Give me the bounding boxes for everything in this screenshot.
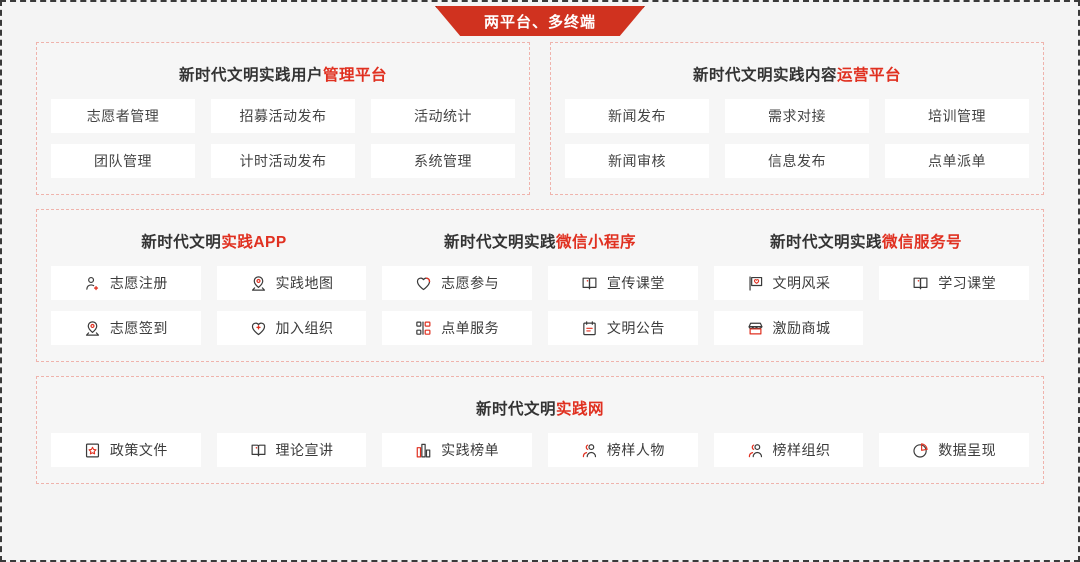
feature-button[interactable]: 团队管理 xyxy=(51,144,195,178)
panels-area: 新时代文明实践用户管理平台 志愿者管理 招募活动发布 活动统计 团队管理 计时活… xyxy=(36,42,1044,546)
terminal-title-miniprogram: 新时代文明实践微信小程序 xyxy=(377,230,703,252)
terminal-title-highlight: 微信小程序 xyxy=(556,234,636,251)
terminal-title-plain: 新时代文明 xyxy=(141,234,221,251)
panel-content-operations: 新时代文明实践内容运营平台 新闻发布 需求对接 培训管理 新闻审核 信息发布 点… xyxy=(550,42,1044,195)
heart-icon xyxy=(415,275,432,292)
map-pin-icon xyxy=(250,275,267,292)
panel-user-management: 新时代文明实践用户管理平台 志愿者管理 招募活动发布 活动统计 团队管理 计时活… xyxy=(36,42,530,195)
feature-label: 宣传课堂 xyxy=(607,273,665,293)
panel-website: 新时代文明实践网 政策文件 xyxy=(36,376,1044,484)
feature-button-order-service[interactable]: 点单服务 xyxy=(382,311,532,345)
feature-label: 志愿参与 xyxy=(441,273,499,293)
notice-board-icon xyxy=(581,320,598,337)
flag-heart-icon xyxy=(747,275,764,292)
people-icon xyxy=(581,442,598,459)
feature-label: 志愿签到 xyxy=(110,318,168,338)
banner-container: 两平台、多终端 xyxy=(2,6,1078,40)
heart-plus-icon xyxy=(250,320,267,337)
terminal-title-plain: 新时代文明实践 xyxy=(444,234,556,251)
feature-button-model-organization[interactable]: 榜样组织 xyxy=(714,433,864,467)
pie-chart-icon xyxy=(912,442,929,459)
panel-title-website: 新时代文明实践网 xyxy=(51,389,1029,433)
panel-terminals: 新时代文明实践APP 新时代文明实践微信小程序 新时代文明实践微信服务号 xyxy=(36,209,1044,362)
user-add-icon xyxy=(84,275,101,292)
bar-chart-icon xyxy=(415,442,432,459)
shop-icon xyxy=(747,320,764,337)
button-grid-user-management: 志愿者管理 招募活动发布 活动统计 团队管理 计时活动发布 系统管理 xyxy=(51,99,515,178)
feature-button[interactable]: 点单派单 xyxy=(885,144,1029,178)
terminal-title-plain: 新时代文明实践 xyxy=(770,234,882,251)
people-icon xyxy=(747,442,764,459)
pin-checkin-icon xyxy=(84,320,101,337)
icon-row: 志愿签到 加入组织 xyxy=(51,311,1029,345)
panel-title-highlight: 实践网 xyxy=(556,401,604,418)
button-row: 新闻审核 信息发布 点单派单 xyxy=(565,144,1029,178)
feature-label: 激励商城 xyxy=(773,318,831,338)
banner-ribbon: 两平台、多终端 xyxy=(435,6,645,36)
feature-button-civil-announcement[interactable]: 文明公告 xyxy=(548,311,698,345)
banner-label: 两平台、多终端 xyxy=(484,11,596,32)
icon-grid-terminals: 志愿注册 实践地图 xyxy=(51,266,1029,345)
feature-button[interactable]: 信息发布 xyxy=(725,144,869,178)
panel-title-plain: 新时代文明 xyxy=(476,401,556,418)
feature-button[interactable]: 系统管理 xyxy=(371,144,515,178)
button-row: 团队管理 计时活动发布 系统管理 xyxy=(51,144,515,178)
feature-button[interactable]: 新闻审核 xyxy=(565,144,709,178)
feature-button-promo-classroom[interactable]: 宣传课堂 xyxy=(548,266,698,300)
terminal-title-serviceaccount: 新时代文明实践微信服务号 xyxy=(703,230,1029,252)
feature-button-join-organization[interactable]: 加入组织 xyxy=(217,311,367,345)
icon-row-website: 政策文件 理论宣讲 xyxy=(51,433,1029,467)
feature-label: 实践地图 xyxy=(276,273,334,293)
feature-button[interactable]: 志愿者管理 xyxy=(51,99,195,133)
feature-label: 榜样人物 xyxy=(607,440,665,460)
icon-row: 志愿注册 实践地图 xyxy=(51,266,1029,300)
feature-label: 理论宣讲 xyxy=(276,440,334,460)
feature-button[interactable]: 活动统计 xyxy=(371,99,515,133)
org-grid-icon xyxy=(415,320,432,337)
feature-button-data-display[interactable]: 数据呈现 xyxy=(879,433,1029,467)
feature-button-volunteer-register[interactable]: 志愿注册 xyxy=(51,266,201,300)
feature-label: 实践榜单 xyxy=(441,440,499,460)
feature-label: 学习课堂 xyxy=(938,273,996,293)
infographic-frame: 两平台、多终端 新时代文明实践用户管理平台 志愿者管理 招募活动发布 活动统计 … xyxy=(0,0,1080,562)
feature-label: 文明公告 xyxy=(607,318,665,338)
button-grid-content-operations: 新闻发布 需求对接 培训管理 新闻审核 信息发布 点单派单 xyxy=(565,99,1029,178)
open-book-icon xyxy=(250,442,267,459)
feature-button-model-people[interactable]: 榜样人物 xyxy=(548,433,698,467)
feature-button-civilization-style[interactable]: 文明风采 xyxy=(714,266,864,300)
button-row: 志愿者管理 招募活动发布 活动统计 xyxy=(51,99,515,133)
feature-button-volunteer-checkin[interactable]: 志愿签到 xyxy=(51,311,201,345)
feature-button-practice-map[interactable]: 实践地图 xyxy=(217,266,367,300)
panel-title-plain: 新时代文明实践用户 xyxy=(179,67,323,84)
feature-label: 文明风采 xyxy=(773,273,831,293)
terminal-title-app: 新时代文明实践APP xyxy=(51,230,377,252)
feature-button[interactable]: 招募活动发布 xyxy=(211,99,355,133)
feature-label: 数据呈现 xyxy=(938,440,996,460)
open-book-icon xyxy=(581,275,598,292)
panel-title-user-management: 新时代文明实践用户管理平台 xyxy=(51,55,515,99)
button-row: 新闻发布 需求对接 培训管理 xyxy=(565,99,1029,133)
feature-button[interactable]: 需求对接 xyxy=(725,99,869,133)
feature-button[interactable]: 新闻发布 xyxy=(565,99,709,133)
feature-button[interactable]: 培训管理 xyxy=(885,99,1029,133)
feature-button-study-classroom[interactable]: 学习课堂 xyxy=(879,266,1029,300)
panel-title-plain: 新时代文明实践内容 xyxy=(693,67,837,84)
feature-button-theory-lecture[interactable]: 理论宣讲 xyxy=(217,433,367,467)
feature-label: 志愿注册 xyxy=(110,273,168,293)
gap-spacer xyxy=(36,195,1044,209)
feature-label: 点单服务 xyxy=(441,318,499,338)
terminal-title-highlight: 微信服务号 xyxy=(882,234,962,251)
feature-label: 加入组织 xyxy=(276,318,334,338)
panel-title-content-operations: 新时代文明实践内容运营平台 xyxy=(565,55,1029,99)
panel-title-highlight: 运营平台 xyxy=(837,67,901,84)
feature-button-volunteer-participate[interactable]: 志愿参与 xyxy=(382,266,532,300)
open-book-icon xyxy=(912,275,929,292)
doc-star-icon xyxy=(84,442,101,459)
banner-left-fold xyxy=(411,6,437,14)
panel-title-terminals: 新时代文明实践APP 新时代文明实践微信小程序 新时代文明实践微信服务号 xyxy=(51,222,1029,266)
panel-title-highlight: 管理平台 xyxy=(323,67,387,84)
top-panel-row: 新时代文明实践用户管理平台 志愿者管理 招募活动发布 活动统计 团队管理 计时活… xyxy=(36,42,1044,195)
icon-row-filler xyxy=(879,311,1029,345)
feature-label: 榜样组织 xyxy=(773,440,831,460)
gap-spacer xyxy=(36,362,1044,376)
feature-button-reward-mall[interactable]: 激励商城 xyxy=(714,311,864,345)
feature-button[interactable]: 计时活动发布 xyxy=(211,144,355,178)
feature-button-policy-docs[interactable]: 政策文件 xyxy=(51,433,201,467)
banner-right-fold xyxy=(643,6,669,14)
feature-label: 政策文件 xyxy=(110,440,168,460)
terminal-title-highlight: 实践APP xyxy=(221,234,286,251)
feature-button-practice-ranking[interactable]: 实践榜单 xyxy=(382,433,532,467)
